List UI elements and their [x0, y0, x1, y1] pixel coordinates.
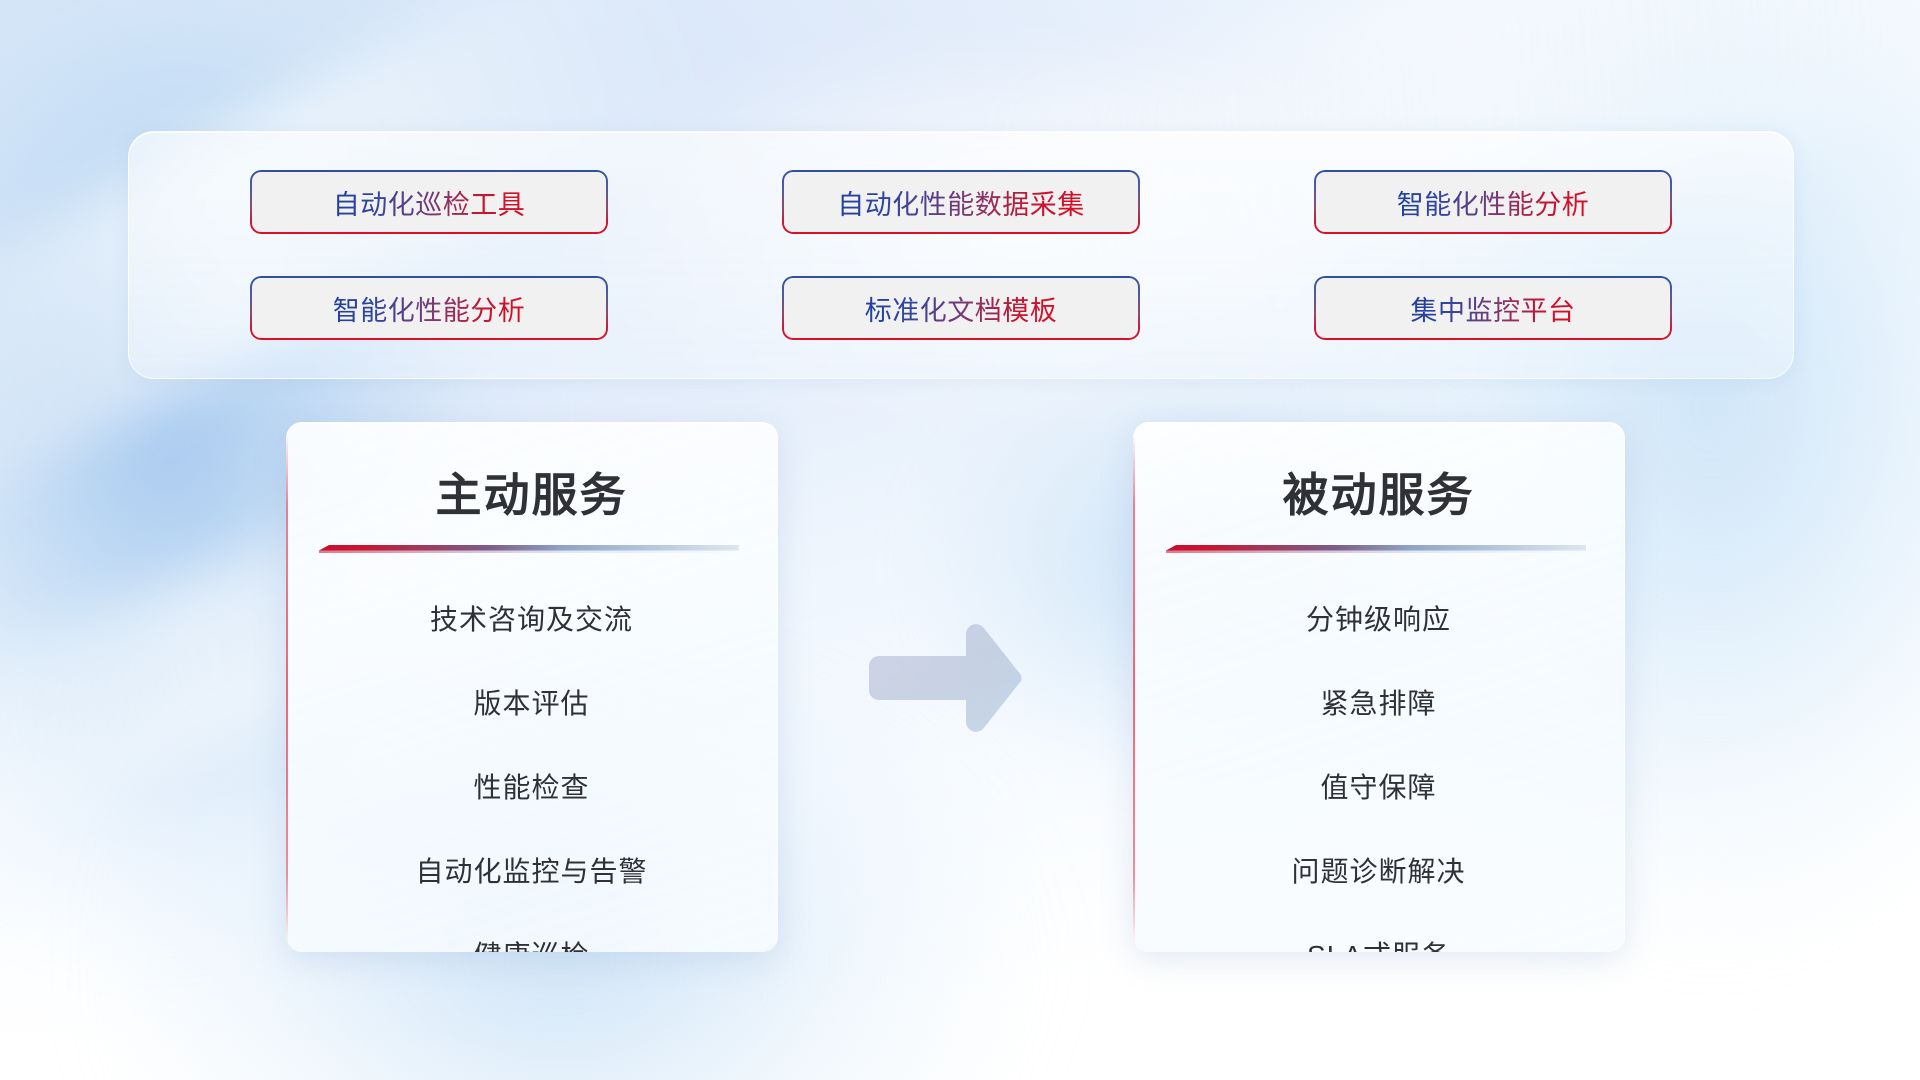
capability-pill-standardized-document-template[interactable]: 标准化文档模板: [782, 276, 1140, 340]
card-divider: [1166, 545, 1586, 558]
list-item: 分钟级响应: [1306, 598, 1451, 638]
capability-pill-intelligent-performance-analysis-1[interactable]: 智能化性能分析: [1314, 170, 1672, 234]
list-item: 版本评估: [473, 682, 589, 722]
list-item: SLA式服务: [1307, 934, 1450, 952]
list-item: 值守保障: [1320, 766, 1436, 806]
capability-pill-automated-performance-data-collection[interactable]: 自动化性能数据采集: [782, 170, 1140, 234]
capability-pill-label: 智能化性能分析: [1397, 183, 1590, 222]
service-card-proactive[interactable]: 主动服务 技术咨询及交流 版本评估 性能检查 自动化监控与告警 健康巡检: [286, 422, 778, 952]
slide-canvas: 自动化巡检工具 自动化性能数据采集 智能化性能分析 智能化性能分析 标准化文档模…: [0, 0, 1920, 1080]
card-item-list: 技术咨询及交流 版本评估 性能检查 自动化监控与告警 健康巡检: [286, 598, 777, 952]
capability-pill-automated-inspection-tool[interactable]: 自动化巡检工具: [250, 170, 608, 234]
service-card-reactive[interactable]: 被动服务 分钟级响应 紧急排障 值守保障 问题诊断解决 SLA式服务: [1133, 422, 1625, 952]
capability-panel: 自动化巡检工具 自动化性能数据采集 智能化性能分析 智能化性能分析 标准化文档模…: [128, 131, 1794, 379]
card-divider: [319, 545, 739, 558]
capability-pill-label: 集中监控平台: [1411, 289, 1576, 328]
list-item: 问题诊断解决: [1291, 850, 1465, 890]
right-arrow-icon: [869, 623, 1027, 733]
list-item: 紧急排障: [1320, 682, 1436, 722]
capability-pill-label: 自动化性能数据采集: [837, 183, 1085, 222]
list-item: 性能检查: [473, 766, 589, 806]
capability-pill-centralized-monitoring-platform[interactable]: 集中监控平台: [1314, 276, 1672, 340]
list-item: 自动化监控与告警: [415, 850, 647, 890]
capability-pill-intelligent-performance-analysis-2[interactable]: 智能化性能分析: [250, 276, 608, 340]
list-item: 技术咨询及交流: [430, 598, 633, 638]
card-title: 主动服务: [286, 459, 777, 525]
card-title: 被动服务: [1133, 459, 1624, 525]
capability-grid: 自动化巡检工具 自动化性能数据采集 智能化性能分析 智能化性能分析 标准化文档模…: [129, 132, 1793, 378]
capability-pill-label: 自动化巡检工具: [333, 183, 526, 222]
card-item-list: 分钟级响应 紧急排障 值守保障 问题诊断解决 SLA式服务: [1133, 598, 1624, 952]
capability-pill-label: 智能化性能分析: [333, 289, 526, 328]
list-item: 健康巡检: [473, 934, 589, 952]
capability-pill-label: 标准化文档模板: [865, 289, 1058, 328]
